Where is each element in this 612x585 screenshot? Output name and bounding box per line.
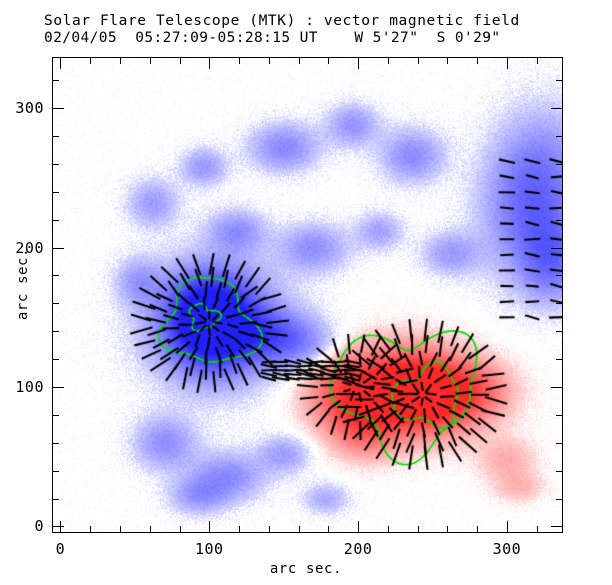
y-axis-title: arc sec. bbox=[15, 224, 31, 344]
x-major-tick bbox=[507, 521, 508, 532]
x-tick-label-1: 100 bbox=[174, 540, 244, 558]
y-minor-tick bbox=[53, 164, 59, 165]
vector-field-overlay bbox=[53, 58, 562, 532]
x-minor-tick-top bbox=[328, 58, 329, 64]
y-major-tick-right bbox=[551, 108, 562, 109]
figure-title: Solar Flare Telescope (MTK) : vector mag… bbox=[44, 13, 604, 30]
y-minor-tick-right bbox=[556, 331, 562, 332]
x-minor-tick bbox=[150, 526, 151, 532]
y-minor-tick bbox=[53, 443, 59, 444]
x-minor-tick-top bbox=[239, 58, 240, 64]
x-minor-tick bbox=[269, 526, 270, 532]
x-major-tick bbox=[358, 521, 359, 532]
y-minor-tick bbox=[53, 303, 59, 304]
y-minor-tick bbox=[53, 192, 59, 193]
y-minor-tick-right bbox=[556, 136, 562, 137]
x-minor-tick-top bbox=[477, 58, 478, 64]
y-minor-tick bbox=[53, 471, 59, 472]
x-minor-tick-top bbox=[90, 58, 91, 64]
y-minor-tick bbox=[53, 499, 59, 500]
plot-area bbox=[52, 57, 563, 533]
x-minor-tick bbox=[120, 526, 121, 532]
y-minor-tick bbox=[53, 415, 59, 416]
x-major-tick-top bbox=[358, 58, 359, 69]
x-minor-tick-top bbox=[269, 58, 270, 64]
x-tick-label-3: 300 bbox=[472, 540, 542, 558]
y-major-tick bbox=[53, 387, 64, 388]
x-major-tick bbox=[209, 521, 210, 532]
x-minor-tick bbox=[299, 526, 300, 532]
y-minor-tick-right bbox=[556, 275, 562, 276]
y-minor-tick-right bbox=[556, 415, 562, 416]
x-major-tick-top bbox=[507, 58, 508, 69]
y-tick-label-1: 100 bbox=[0, 378, 44, 396]
y-minor-tick-right bbox=[556, 443, 562, 444]
x-minor-tick-top bbox=[388, 58, 389, 64]
x-minor-tick-top bbox=[180, 58, 181, 64]
x-minor-tick bbox=[477, 526, 478, 532]
y-major-tick-right bbox=[551, 526, 562, 527]
x-minor-tick-top bbox=[537, 58, 538, 64]
y-minor-tick-right bbox=[556, 471, 562, 472]
x-axis-title: arc sec. bbox=[0, 561, 612, 577]
y-minor-tick bbox=[53, 220, 59, 221]
y-tick-label-3: 300 bbox=[0, 99, 44, 117]
y-minor-tick bbox=[53, 359, 59, 360]
x-minor-tick bbox=[239, 526, 240, 532]
x-tick-label-0: 0 bbox=[25, 540, 95, 558]
y-minor-tick-right bbox=[556, 303, 562, 304]
x-minor-tick bbox=[388, 526, 389, 532]
x-minor-tick bbox=[328, 526, 329, 532]
y-minor-tick-right bbox=[556, 359, 562, 360]
figure-subtitle: 02/04/05 05:27:09-05:28:15 UT W 5'27" S … bbox=[44, 30, 604, 47]
x-major-tick-top bbox=[209, 58, 210, 69]
x-minor-tick-top bbox=[447, 58, 448, 64]
x-minor-tick-top bbox=[120, 58, 121, 64]
y-tick-label-0: 0 bbox=[0, 517, 44, 535]
y-minor-tick-right bbox=[556, 220, 562, 221]
x-minor-tick bbox=[90, 526, 91, 532]
x-major-tick-top bbox=[60, 58, 61, 69]
x-minor-tick-top bbox=[150, 58, 151, 64]
y-minor-tick-right bbox=[556, 164, 562, 165]
x-minor-tick bbox=[418, 526, 419, 532]
y-major-tick bbox=[53, 248, 64, 249]
x-minor-tick-top bbox=[299, 58, 300, 64]
x-minor-tick bbox=[447, 526, 448, 532]
y-minor-tick-right bbox=[556, 499, 562, 500]
plot-canvas-wrap bbox=[53, 58, 562, 532]
x-minor-tick-top bbox=[418, 58, 419, 64]
x-minor-tick bbox=[537, 526, 538, 532]
y-minor-tick bbox=[53, 331, 59, 332]
figure-header: Solar Flare Telescope (MTK) : vector mag… bbox=[44, 13, 604, 47]
x-minor-tick bbox=[180, 526, 181, 532]
y-minor-tick bbox=[53, 136, 59, 137]
y-major-tick-right bbox=[551, 248, 562, 249]
magnetogram-figure: Solar Flare Telescope (MTK) : vector mag… bbox=[0, 0, 612, 585]
y-minor-tick-right bbox=[556, 80, 562, 81]
y-minor-tick bbox=[53, 80, 59, 81]
y-minor-tick bbox=[53, 275, 59, 276]
y-minor-tick-right bbox=[556, 192, 562, 193]
y-major-tick-right bbox=[551, 387, 562, 388]
y-major-tick bbox=[53, 526, 64, 527]
x-tick-label-2: 200 bbox=[323, 540, 393, 558]
y-major-tick bbox=[53, 108, 64, 109]
